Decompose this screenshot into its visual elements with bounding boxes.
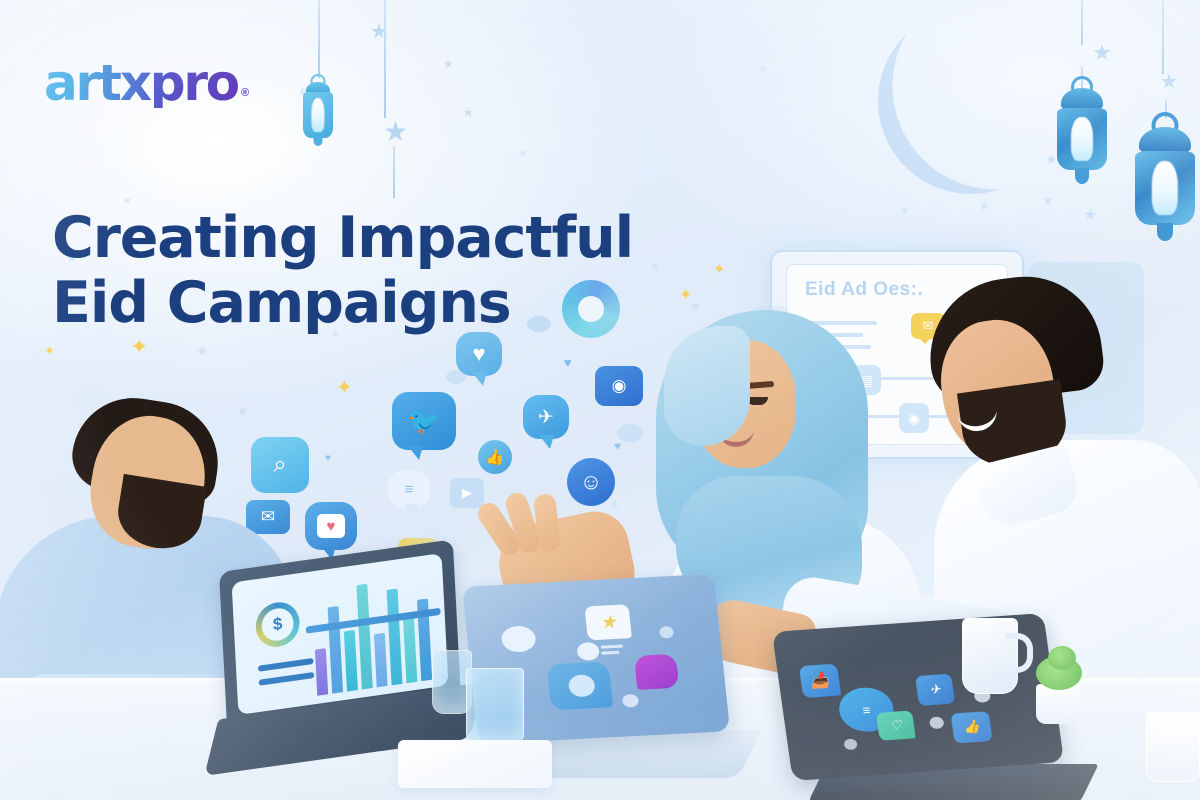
chart-bar xyxy=(403,613,417,683)
chart-bar xyxy=(344,629,358,691)
cloud-decor xyxy=(446,370,466,384)
hanging-thread xyxy=(1081,0,1083,45)
pen-cup xyxy=(1146,712,1200,782)
like-bubble-icon: 👍 xyxy=(478,440,512,474)
logo-wordmark: artxpro xyxy=(44,58,238,108)
like-icon: ♡ xyxy=(876,710,916,740)
heart-bubble-icon: ♥ xyxy=(456,332,502,376)
cloud-blob-sticker xyxy=(659,626,674,639)
water-glass-front xyxy=(466,668,524,746)
sticker-text-line xyxy=(601,651,619,655)
lantern-large-right-2 xyxy=(1132,112,1198,246)
star-icon: ★ xyxy=(383,118,408,146)
hanging-thread xyxy=(384,0,386,118)
hanging-thread xyxy=(393,146,395,198)
hanging-thread xyxy=(318,0,320,78)
hijab-front-fold xyxy=(664,326,750,446)
cloud-blob-sticker xyxy=(500,625,537,653)
dollar-symbol: $ xyxy=(261,606,294,643)
chart-bar xyxy=(387,589,403,685)
send-icon: ✈ xyxy=(915,674,955,706)
stat-line xyxy=(258,658,314,672)
star-note-sticker: ★ xyxy=(584,604,631,640)
lantern-large-right-1 xyxy=(1054,76,1110,192)
smiley-icon: ☺ xyxy=(567,458,615,506)
star-icon: ★ xyxy=(610,500,620,511)
headline-line-1: Creating Impactful xyxy=(52,205,633,271)
star-icon: ★ xyxy=(979,200,990,212)
ring-icon xyxy=(562,280,620,338)
sparkle-icon: ✦ xyxy=(44,344,55,357)
cloud-blob-sticker xyxy=(622,694,639,708)
sparkle-icon: ✦ xyxy=(713,262,726,277)
hanging-thread xyxy=(1162,0,1164,74)
chat-lines-icon: ≡ xyxy=(388,470,430,508)
send-bubble-icon: ✈ xyxy=(523,395,569,439)
camera-icon: ◉ xyxy=(595,366,643,406)
cloud-blob-sticker xyxy=(843,738,858,750)
mini-heart-icon: ♥ xyxy=(614,440,621,452)
stat-line xyxy=(259,672,315,686)
lantern-small-left xyxy=(300,74,336,148)
chart-bar xyxy=(328,606,343,694)
coffee-mug xyxy=(962,618,1018,694)
star-icon: ★ xyxy=(1092,42,1112,64)
star-icon: ★ xyxy=(1083,208,1097,224)
eid-campaign-banner: ★ ★ ★ ★ ★ ★ ★ ★ ★ ★ ★ ★ ★ ★ ★ ★ ★ ★ ★ ★ … xyxy=(0,0,1200,800)
star-icon: ★ xyxy=(1042,194,1054,207)
mini-heart-icon: ♥ xyxy=(564,356,572,369)
chart-bar xyxy=(374,633,388,687)
chart-bar xyxy=(356,583,372,689)
star-icon: ★ xyxy=(443,58,454,70)
twitter-bird-icon: 🐦 xyxy=(392,392,456,450)
cloud-blob-sticker xyxy=(929,716,945,729)
sparkle-icon: ✦ xyxy=(130,336,148,358)
registered-trademark-icon: ® xyxy=(241,87,249,99)
inbox-icon: 📥 xyxy=(799,664,841,698)
purple-bubble-sticker xyxy=(634,654,680,690)
plant-pot xyxy=(1036,684,1080,724)
sticker-text-line xyxy=(601,645,623,649)
sparkle-icon: ✦ xyxy=(336,378,353,398)
crescent-moon-icon xyxy=(878,8,1064,194)
thumbs-up-icon: 👍 xyxy=(951,711,993,743)
star-icon: ★ xyxy=(1160,72,1178,92)
dot-decor xyxy=(760,66,766,72)
white-notebook xyxy=(398,740,552,788)
star-icon: ★ xyxy=(462,105,475,119)
brand-logo[interactable]: artxpro ® xyxy=(44,58,249,108)
video-icon: ▶ xyxy=(450,478,484,508)
dot-decor xyxy=(520,150,526,156)
cloud-decor xyxy=(527,316,551,332)
cloud-blob-sticker xyxy=(576,642,600,661)
dollar-coin-icon: $ xyxy=(255,599,301,649)
chart-bar xyxy=(315,648,328,696)
star-icon: ★ xyxy=(196,344,209,358)
star-icon: ★ xyxy=(900,206,910,217)
plant-leaf xyxy=(1048,646,1076,670)
bar-chart xyxy=(312,569,437,696)
